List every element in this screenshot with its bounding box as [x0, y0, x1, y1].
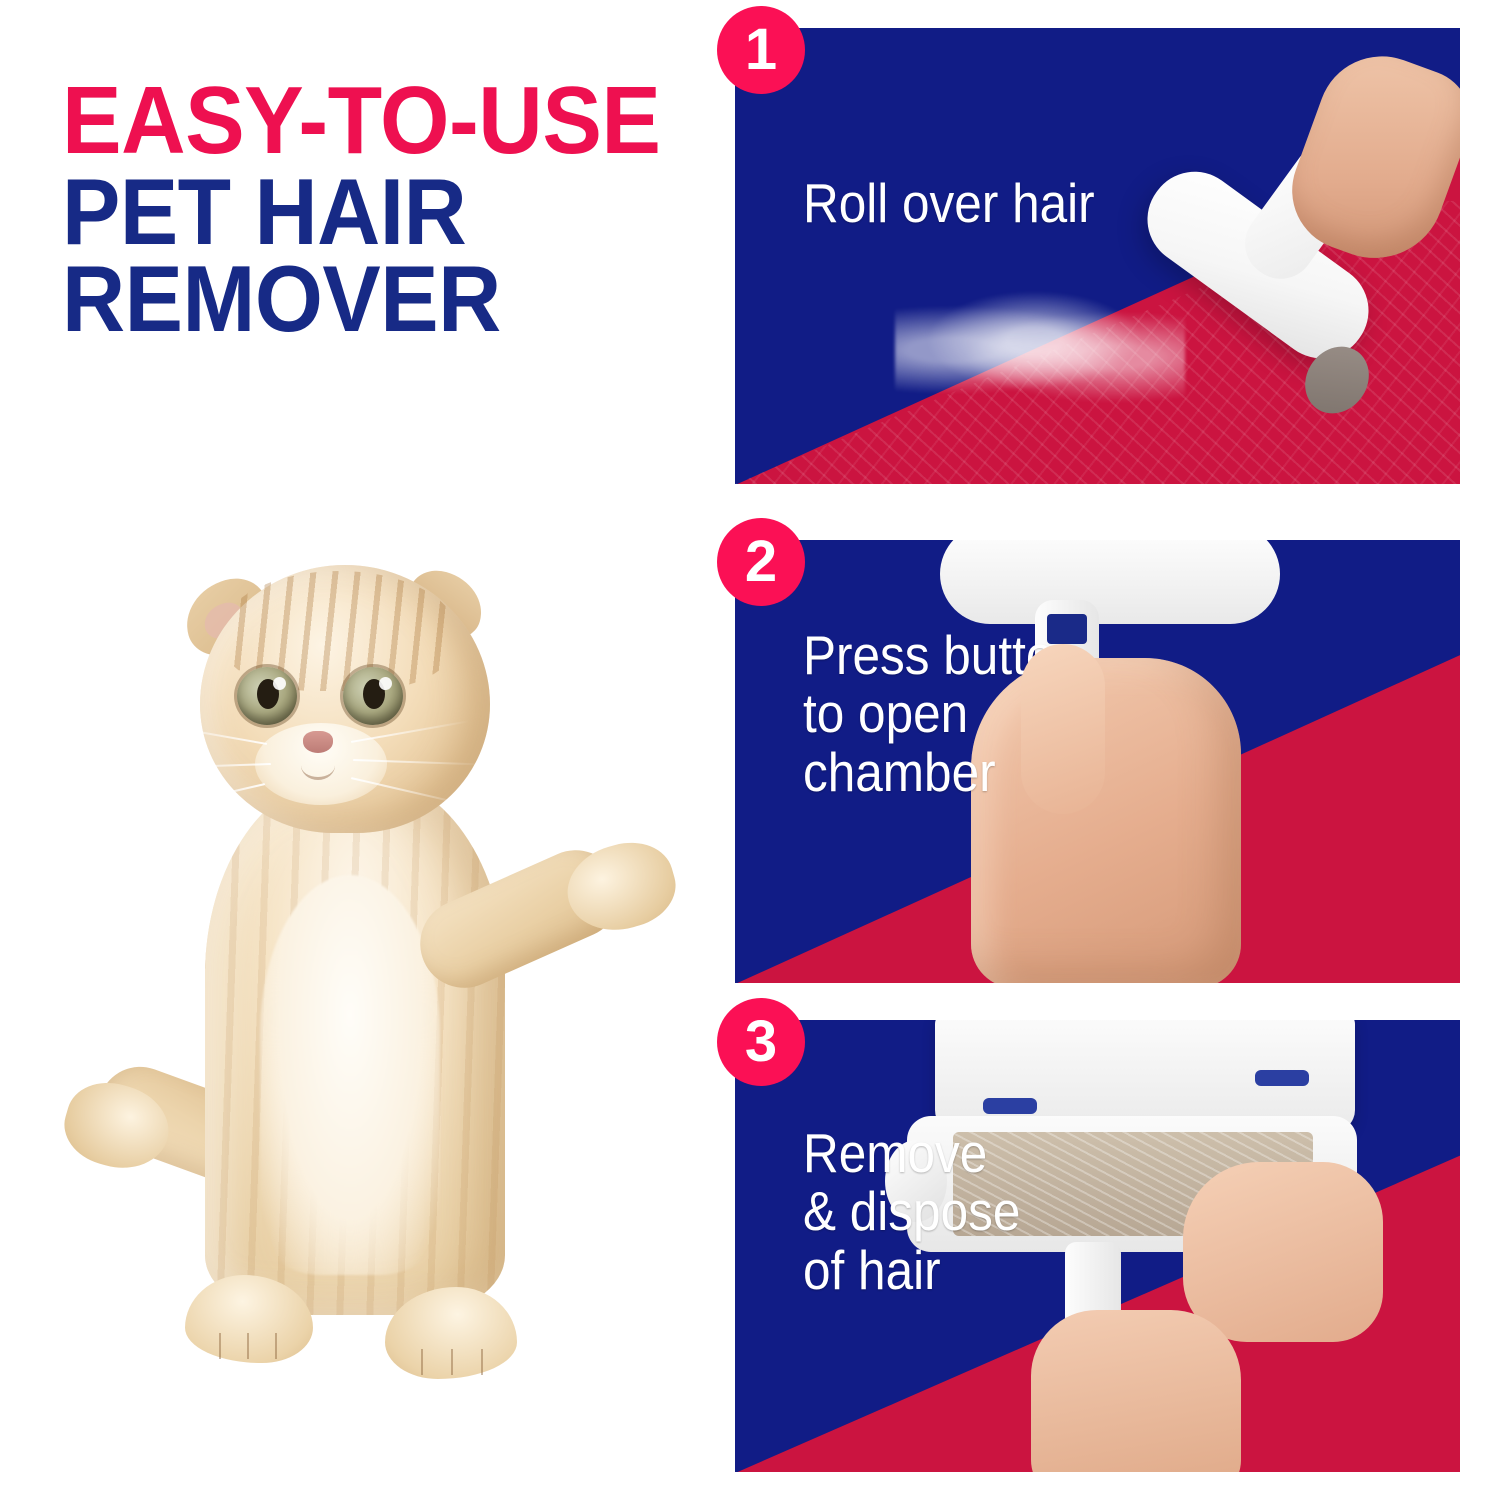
- cat-mouth: [301, 751, 335, 780]
- step-panel-2: 2 Press button to open chamber: [735, 540, 1460, 983]
- headline-eyebrow: EASY-TO-USE: [62, 78, 657, 164]
- step-panel-3: 3 Remove & dispose of hair: [735, 1020, 1460, 1472]
- hand-holding-handle: [1031, 1310, 1241, 1472]
- page-title: EASY-TO-USE PET HAIR REMOVER: [62, 78, 702, 342]
- step-caption-1: Roll over hair: [803, 174, 1095, 232]
- headline-line-2: REMOVER: [62, 257, 657, 342]
- step-caption-3: Remove & dispose of hair: [803, 1124, 1020, 1299]
- lid-tab: [983, 1098, 1037, 1114]
- step-badge-1: 1: [717, 6, 805, 94]
- step-panel-1: 1 Roll over hair: [735, 28, 1460, 484]
- step-badge-3: 3: [717, 998, 805, 1086]
- pet-hair-clump: [895, 290, 1185, 410]
- lid-tab: [1255, 1070, 1309, 1086]
- roller-body: [940, 540, 1280, 624]
- left-column: EASY-TO-USE PET HAIR REMOVER: [0, 0, 720, 1500]
- thumb-pressing-button: [1021, 644, 1105, 814]
- headline-line-1: PET HAIR: [62, 170, 657, 255]
- cat-chest: [260, 875, 440, 1275]
- hand-pulling-hair: [1183, 1162, 1383, 1342]
- cat-left-eye: [237, 667, 297, 725]
- step-1-media: [735, 28, 1460, 484]
- step-badge-2: 2: [717, 518, 805, 606]
- cat-hero-image: [55, 545, 675, 1445]
- steps-column: 1 Roll over hair 2 Press button to open …: [735, 0, 1460, 1500]
- cat-right-eye: [343, 667, 403, 725]
- cat-nose: [303, 731, 333, 753]
